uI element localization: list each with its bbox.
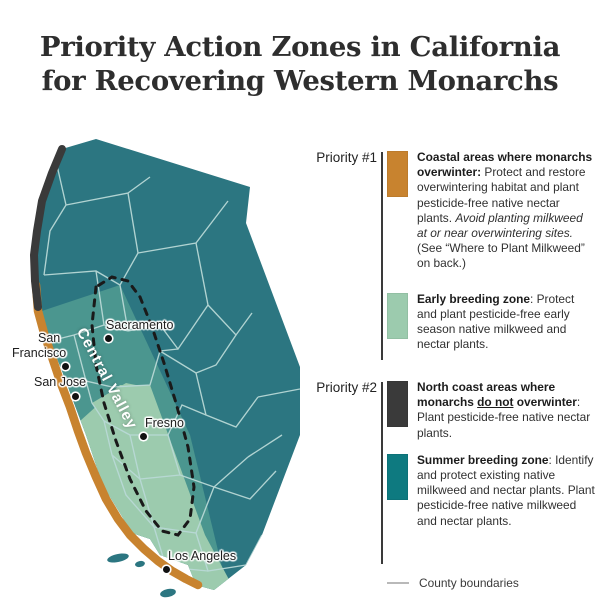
city-dot-los-angeles [163,566,170,573]
california-map: Central Valley Sacramento San Francisco … [0,135,310,600]
county-boundaries-label: County boundaries [419,576,519,590]
city-label-fresno: Fresno [145,416,184,430]
city-dot-san-jose [72,393,79,400]
legend-text-overwintering: Coastal areas where monarchs overwinter:… [417,150,595,272]
priority-1-label: Priority #1 [305,150,377,165]
swatch-early-breeding-green [387,293,408,339]
legend-body-overwintering-2: (See “Where to Plant Milkweed” on back.) [417,241,585,270]
legend-group-priority-2: Priority #2 North coast areas where mona… [305,380,600,570]
city-label-los-angeles: Los Angeles [168,549,236,563]
city-label-san-jose: San Jose [34,375,86,389]
city-label-sacramento: Sacramento [106,318,173,332]
map-svg [0,135,310,600]
legend-title-north-coast-tail: : [577,395,580,409]
title-line-1: Priority Action Zones in California [0,30,600,64]
legend-item-north-coast: North coast areas where monarchs do not … [387,380,600,441]
legend-item-summer-breeding: Summer breeding zone: Identify and prote… [387,453,600,529]
legend-text-early-breeding: Early breeding zone: Protect and plant p… [417,292,595,353]
priority-1-rule [381,152,383,360]
swatch-north-coast-dark [387,381,408,427]
infographic-page: Priority Action Zones in California for … [0,0,600,600]
page-title: Priority Action Zones in California for … [0,30,600,98]
swatch-overwintering-orange [387,151,408,197]
city-dot-fresno [140,433,147,440]
title-line-2: for Recovering Western Monarchs [0,64,600,98]
legend-item-early-breeding: Early breeding zone: Protect and plant p… [387,292,600,353]
map-base-layer [0,135,310,600]
legend-title-north-coast-b: overwinter [513,395,576,409]
legend-title-north-coast-emphasis: do not [477,395,513,409]
swatch-summer-breeding-teal [387,454,408,500]
legend-text-north-coast: North coast areas where monarchs do not … [417,380,595,441]
channel-islands [106,552,176,599]
legend-body-north-coast: Plant pesticide-free native nectar plant… [417,410,590,439]
legend-title-early-breeding: Early breeding zone [417,292,530,306]
priority-2-rule [381,382,383,564]
legend-item-county-boundaries: County boundaries [387,576,600,590]
city-dot-san-francisco [62,363,69,370]
legend: Priority #1 Coastal areas where monarchs… [305,150,600,590]
county-boundary-line-icon [387,582,409,584]
city-label-san-francisco-line1: San [38,331,60,345]
priority-2-label: Priority #2 [305,380,377,395]
city-dot-sacramento [105,335,112,342]
legend-item-overwintering: Coastal areas where monarchs overwinter:… [387,150,600,272]
legend-group-priority-1: Priority #1 Coastal areas where monarchs… [305,150,600,366]
legend-title-summer-breeding: Summer breeding zone [417,453,548,467]
city-label-san-francisco-line2: Francisco [12,346,66,360]
legend-text-summer-breeding: Summer breeding zone: Identify and prote… [417,453,595,529]
